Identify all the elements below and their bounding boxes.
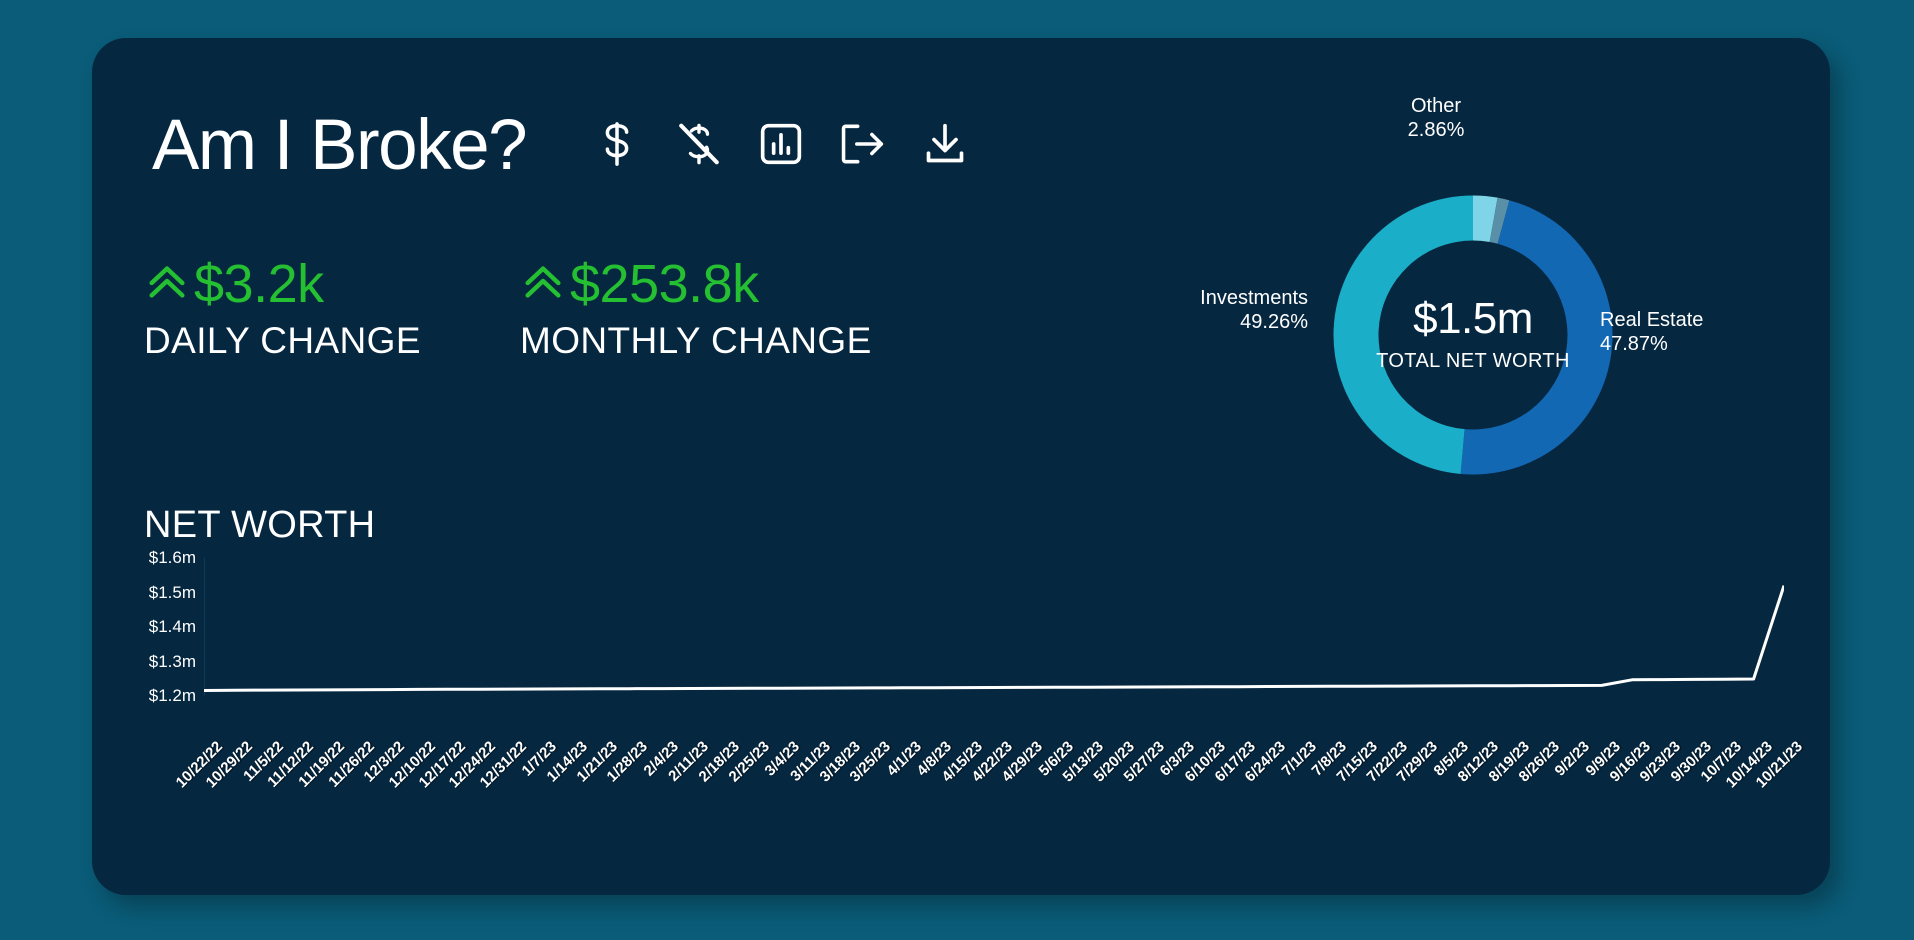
donut-label-investments-pct: 49.26%: [1132, 310, 1308, 334]
dashboard-card: Am I Broke?: [92, 38, 1830, 895]
stat-monthly-label: MONTHLY CHANGE: [520, 320, 872, 362]
toolbar: [594, 121, 968, 171]
stat-monthly-value: $253.8k: [570, 256, 759, 313]
stat-daily-label: DAILY CHANGE: [144, 320, 421, 362]
stat-monthly-change: $253.8k MONTHLY CHANGE: [520, 256, 872, 362]
y-axis-tick: $1.3m: [149, 652, 196, 672]
donut-label-real-estate-pct: 47.87%: [1600, 332, 1776, 356]
header: Am I Broke?: [152, 110, 968, 181]
donut-slice-real-estate[interactable]: [1461, 200, 1613, 474]
donut-label-investments: Investments 49.26%: [1132, 286, 1308, 335]
y-axis: $1.6m$1.5m$1.4m$1.3m$1.2m: [144, 558, 196, 696]
chevron-double-up-icon: [144, 256, 190, 313]
line-plot[interactable]: [204, 558, 1784, 696]
donut-label-other: Other 2.86%: [1366, 94, 1506, 143]
y-axis-tick: $1.2m: [149, 686, 196, 706]
net-worth-chart-title: NET WORTH: [144, 504, 375, 547]
net-worth-line[interactable]: [204, 586, 1784, 691]
dollar-icon[interactable]: [594, 121, 640, 167]
stat-monthly-value-row: $253.8k: [520, 256, 759, 313]
y-axis-tick: $1.5m: [149, 583, 196, 603]
donut-slice-investments[interactable]: [1334, 196, 1473, 474]
y-axis-tick: $1.4m: [149, 617, 196, 637]
y-axis-tick: $1.6m: [149, 548, 196, 568]
x-axis-labels: 10/22/2210/29/2211/5/2211/12/2211/19/221…: [204, 738, 1804, 858]
sign-out-icon[interactable]: [840, 121, 886, 167]
app-root: Am I Broke?: [0, 0, 1914, 940]
download-icon[interactable]: [922, 121, 968, 167]
donut-label-real-estate-name: Real Estate: [1600, 309, 1703, 331]
page-title: Am I Broke?: [152, 110, 526, 181]
dollar-slash-icon[interactable]: [676, 121, 722, 167]
stat-daily-value-row: $3.2k: [144, 256, 324, 313]
donut-label-investments-name: Investments: [1200, 287, 1308, 309]
stat-daily-value: $3.2k: [194, 256, 324, 313]
stat-daily-change: $3.2k DAILY CHANGE: [144, 256, 421, 362]
donut-label-real-estate: Real Estate 47.87%: [1600, 308, 1776, 357]
net-worth-donut-chart: $1.5m TOTAL NET WORTH Other 2.86% Invest…: [1170, 94, 1770, 514]
bar-chart-icon[interactable]: [758, 121, 804, 167]
donut-svg[interactable]: [1328, 190, 1618, 480]
donut-label-other-pct: 2.86%: [1366, 118, 1506, 142]
chevron-double-up-icon: [520, 256, 566, 313]
net-worth-line-chart: $1.6m$1.5m$1.4m$1.3m$1.2m: [144, 558, 1794, 738]
donut-label-other-name: Other: [1411, 95, 1461, 117]
